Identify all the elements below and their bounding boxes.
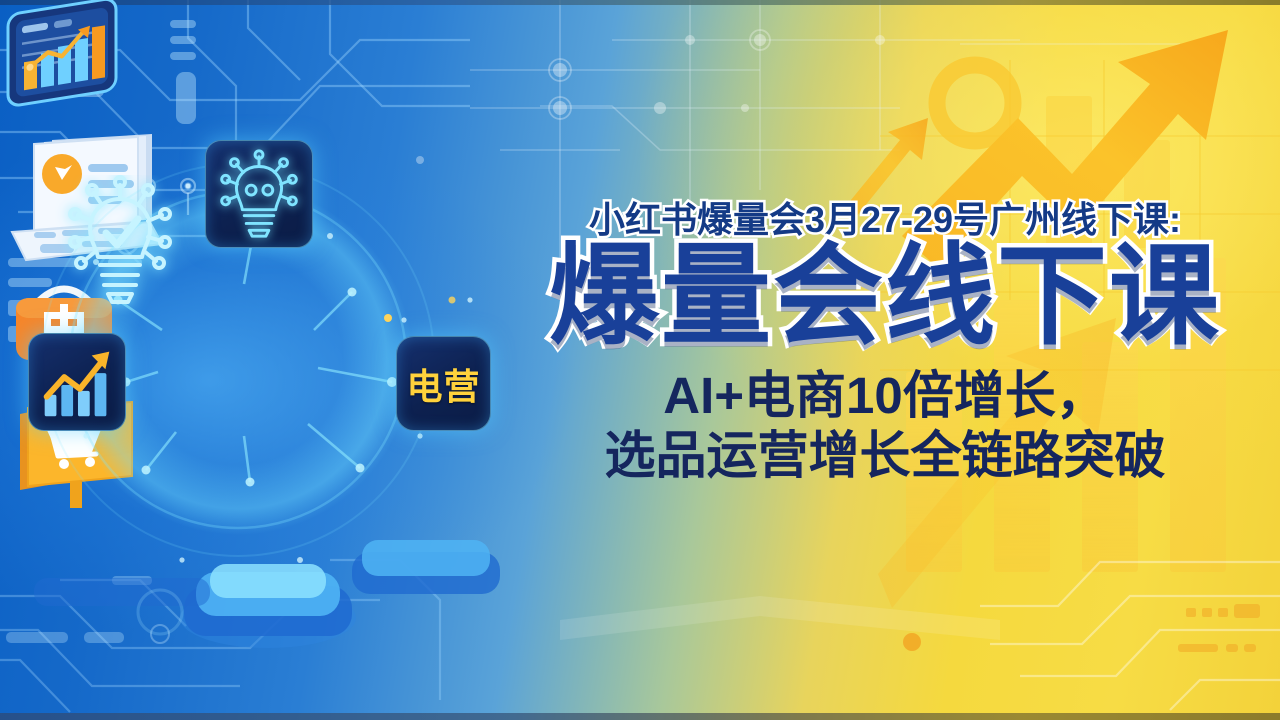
robot-bulb-icon: [205, 140, 313, 248]
sign-platform: [180, 564, 356, 648]
ai-icon-cluster: 电营: [0, 0, 520, 720]
dianying-badge-icon: 电营: [396, 336, 491, 431]
dianying-label: 电营: [406, 358, 480, 410]
laptop-platform: [34, 578, 210, 606]
big-growth-arrow: [1002, 6, 1186, 88]
kicker-text: 小红书爆量会3月27-29号广州线下课:: [505, 200, 1265, 240]
subtitle-line-2: 选品运营增长全链路突破: [505, 426, 1265, 486]
donut-outline: [937, 65, 1013, 141]
subtitle-line-1: AI+电商10倍增长，: [505, 366, 1265, 426]
brain-bulb-icon: [50, 175, 190, 315]
bar-chart-growth-icon: [28, 333, 126, 431]
orange-dot: [903, 633, 921, 651]
headline-text: 爆量会线下课: [505, 242, 1265, 352]
banner-text-block: 小红书爆量会3月27-29号广州线下课: 爆量会线下课 AI+电商10倍增长， …: [505, 200, 1265, 486]
promo-banner: 电营: [0, 0, 1280, 720]
cart-platform: [352, 540, 500, 594]
sheen: [560, 596, 1000, 640]
circuit-traces-bottomright: [980, 562, 1280, 710]
circuit-pads-bottomright: [1178, 604, 1260, 652]
network-node-rings: [549, 30, 770, 119]
